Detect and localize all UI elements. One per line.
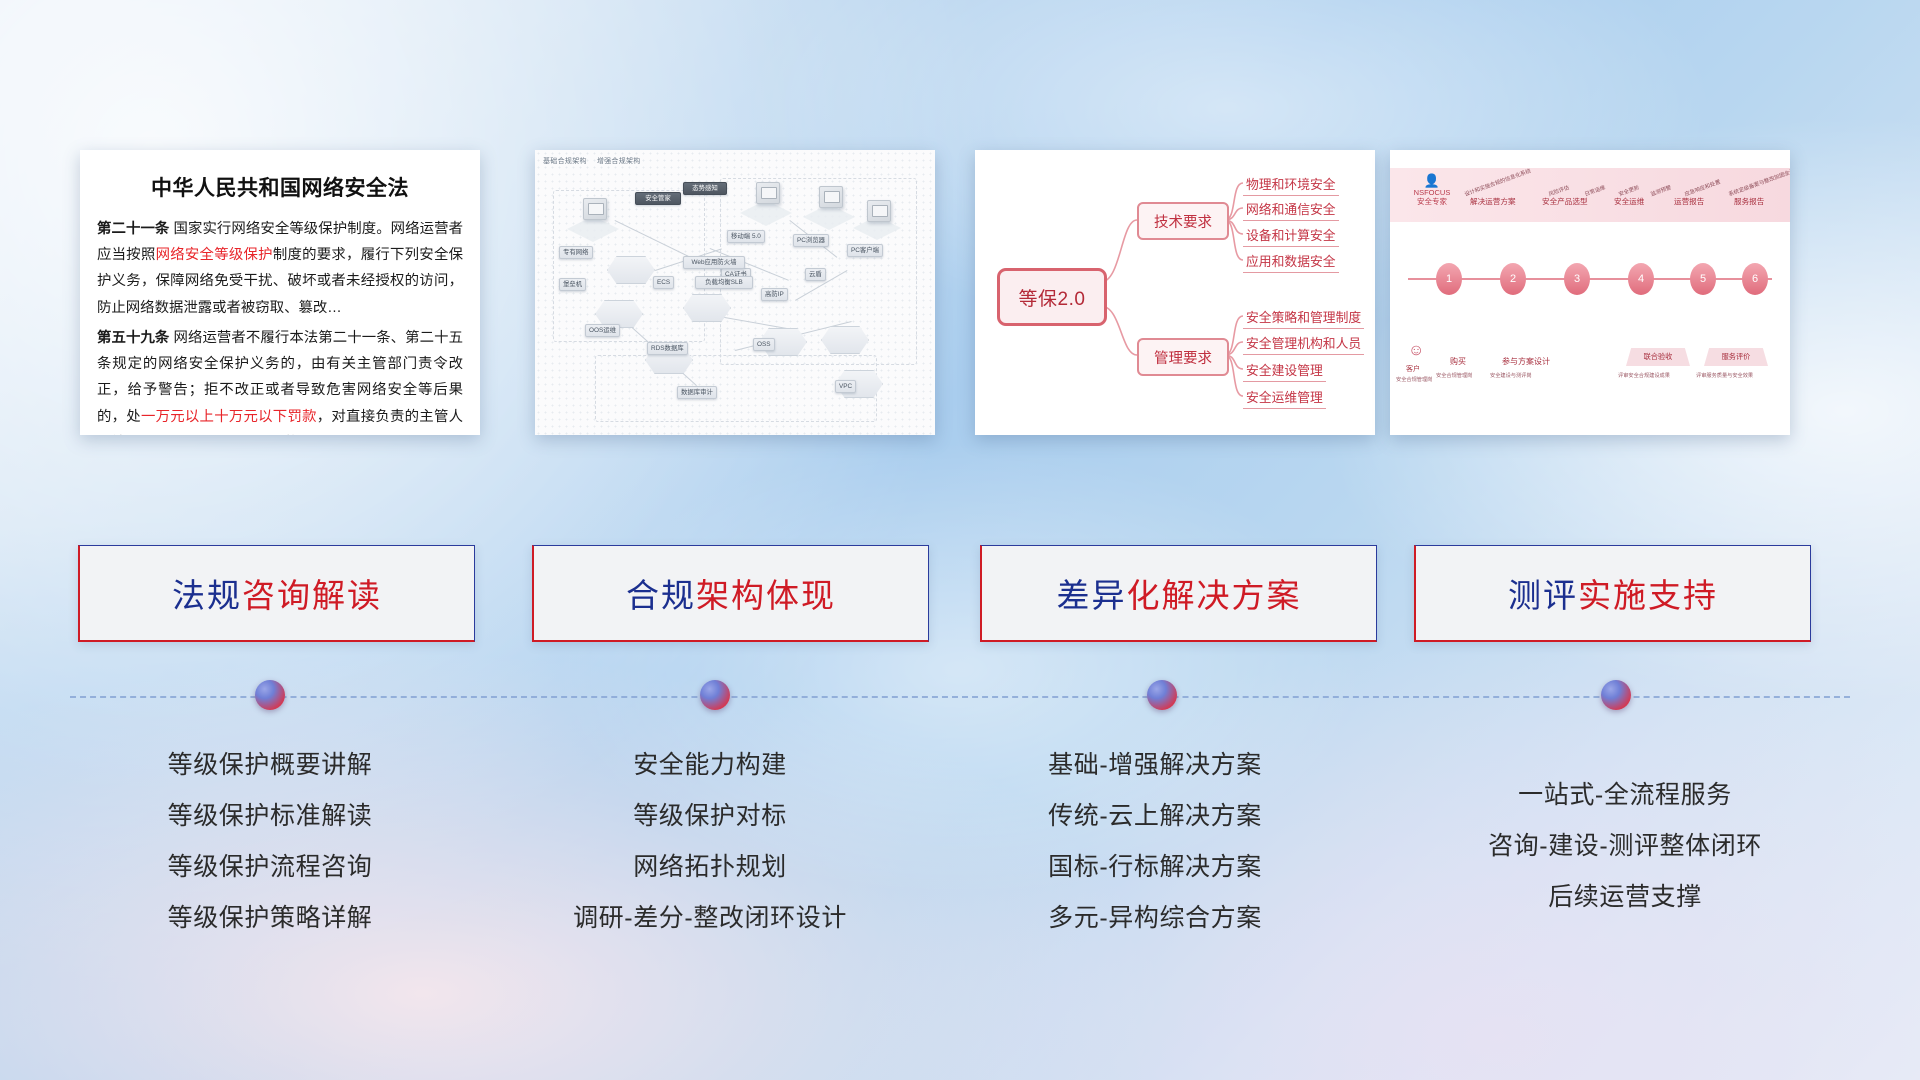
architecture-node: RDS数据库 (647, 342, 688, 355)
feature-lists: 等级保护概要讲解 等级保护标准解读 等级保护流程咨询 等级保护策略详解 安全能力… (0, 740, 1920, 970)
list-item: 调研-差分-整改闭环设计 (500, 893, 920, 944)
banner-label-red: 架构体现 (696, 577, 836, 614)
nsfocus-bottom-label: 参与方案设计 (1502, 356, 1550, 367)
nsfocus-chip: 服务报告 (1734, 196, 1764, 207)
nsfocus-step[interactable]: 2 (1500, 263, 1526, 295)
feature-column-3: 基础-增强解决方案 传统-云上解决方案 国标-行标解决方案 多元-异构综合方案 (945, 740, 1365, 944)
list-item: 咨询-建设-测评整体闭环 (1395, 821, 1855, 872)
list-item: 传统-云上解决方案 (945, 791, 1365, 842)
timeline-dot-3[interactable] (1147, 680, 1177, 710)
card-architecture-diagram[interactable]: 基础合规架构增强合规架构 专有网络 移动端 5.0 PC浏览 (535, 150, 935, 435)
nsfocus-bottom-sublabel: 安全建设与测评岗 (1490, 372, 1532, 379)
nsfocus-bottom-block-sub: 评审安全合规建设成果 (1618, 372, 1670, 379)
architecture-node: OSS (753, 338, 775, 351)
architecture-node: ECS (653, 276, 674, 289)
nsfocus-step[interactable]: 3 (1564, 263, 1590, 295)
mindmap-leaf[interactable]: 安全运维管理 (1243, 387, 1326, 409)
list-item: 等级保护标准解读 (60, 791, 480, 842)
list-item: 国标-行标解决方案 (945, 842, 1365, 893)
banner-label: 法规咨询解读 (172, 569, 382, 617)
banner-evaluation-support[interactable]: 测评实施支持 (1414, 545, 1811, 642)
architecture-node: 安全管家 (635, 192, 681, 205)
architecture-node: OOS运维 (585, 324, 620, 337)
mindmap-leaf[interactable]: 设备和计算安全 (1243, 225, 1339, 247)
banner-label-blue: 测评 (1508, 577, 1578, 614)
timeline-dot-4[interactable] (1601, 680, 1631, 710)
nsfocus-bottom-sublabel: 安全合规管理岗 (1436, 372, 1472, 379)
architecture-node: VPC (835, 380, 856, 393)
nsfocus-bottom-label: 购买 (1450, 356, 1466, 367)
law-article-59: 第五十九条 网络运营者不履行本法第二十一条、第二十五条规定的网络安全保护义务的，… (97, 325, 463, 435)
architecture-node: 负载均衡SLB (695, 276, 753, 289)
banner-label-blue: 法规 (172, 577, 242, 614)
architecture-hex-node (683, 294, 731, 322)
list-item: 等级保护流程咨询 (60, 842, 480, 893)
list-item: 等级保护概要讲解 (60, 740, 480, 791)
feature-column-2: 安全能力构建 等级保护对标 网络拓扑规划 调研-差分-整改闭环设计 (500, 740, 920, 944)
nsfocus-client-icon: ☺ (1408, 342, 1424, 360)
mindmap-leaf[interactable]: 安全建设管理 (1243, 360, 1326, 382)
architecture-header-right: 增强合规架构 (597, 158, 641, 165)
mindmap-leaf[interactable]: 网络和通信安全 (1243, 199, 1339, 221)
banner-label-red: 化解决方案 (1127, 577, 1302, 614)
architecture-node: Web应用防火墙 (683, 256, 745, 269)
architecture-node: 云盾 (805, 268, 826, 281)
law-title: 中华人民共和国网络安全法 (80, 172, 480, 202)
architecture-node: PC浏览器 (793, 234, 829, 247)
banner-differentiated-solution[interactable]: 差异化解决方案 (980, 545, 1377, 642)
card-row: 中华人民共和国网络安全法 第二十一条 国家实行网络安全等级保护制度。网络运营者应… (0, 150, 1920, 445)
architecture-node: 数据库审计 (677, 386, 717, 399)
list-item: 基础-增强解决方案 (945, 740, 1365, 791)
banner-row: 法规咨询解读 合规架构体现 差异化解决方案 测评实施支持 (0, 545, 1920, 650)
feature-column-4: 一站式-全流程服务 咨询-建设-测评整体闭环 后续运营支撑 (1395, 770, 1855, 923)
nsfocus-chip: 运营报告 (1674, 196, 1704, 207)
list-item: 后续运营支撑 (1395, 872, 1855, 923)
card-mindmap[interactable]: 等保2.0 技术要求 管理要求 物理和环境安全 网络和通信安全 设备和计算安全 … (975, 150, 1375, 435)
list-item: 多元-异构综合方案 (945, 893, 1365, 944)
law-body: 第二十一条 国家实行网络安全等级保护制度。网络运营者应当按照网络安全等级保护制度… (80, 216, 480, 435)
timeline-dot-2[interactable] (700, 680, 730, 710)
person-icon: 👤 (1404, 174, 1460, 188)
mindmap-branch-management[interactable]: 管理要求 (1137, 338, 1229, 376)
card-law-text[interactable]: 中华人民共和国网络安全法 第二十一条 国家实行网络安全等级保护制度。网络运营者应… (80, 150, 480, 435)
nsfocus-logo: 👤 NSFOCUS 安全专家 (1404, 174, 1460, 206)
nsfocus-client-sub: 安全合规管理岗 (1396, 376, 1432, 383)
banner-label: 测评实施支持 (1508, 569, 1718, 617)
architecture-node: 专有网络 (559, 246, 593, 259)
list-item: 网络拓扑规划 (500, 842, 920, 893)
banner-regulation-consulting[interactable]: 法规咨询解读 (78, 545, 475, 642)
banner-label: 合规架构体现 (626, 569, 836, 617)
nsfocus-canvas: 👤 NSFOCUS 安全专家 设计和实施合规的信息化系统 风险评估 日常运维 安… (1390, 150, 1790, 435)
architecture-node: 堡垒机 (559, 278, 586, 291)
nsfocus-logo-line1: NSFOCUS (1404, 188, 1460, 197)
nsfocus-bottom-block: 联合验收 (1626, 348, 1690, 366)
law-article-21-highlight: 网络安全等级保护 (156, 247, 273, 263)
list-item: 等级保护策略详解 (60, 893, 480, 944)
mindmap-root-node[interactable]: 等保2.0 (997, 268, 1107, 326)
law-article-59-label: 第五十九条 (97, 330, 169, 346)
nsfocus-axis (1408, 278, 1772, 280)
architecture-node: 态势感知 (683, 182, 727, 195)
nsfocus-client-title: 客户 (1406, 364, 1420, 374)
architecture-header: 基础合规架构增强合规架构 (543, 156, 641, 166)
nsfocus-step[interactable]: 5 (1690, 263, 1716, 295)
nsfocus-chip: 安全产品选型 (1542, 196, 1588, 207)
architecture-server-icon (756, 182, 780, 204)
mindmap-canvas: 等保2.0 技术要求 管理要求 物理和环境安全 网络和通信安全 设备和计算安全 … (975, 150, 1375, 435)
nsfocus-chip: 安全运维 (1614, 196, 1644, 207)
timeline (0, 688, 1920, 728)
architecture-header-left: 基础合规架构 (543, 158, 587, 165)
nsfocus-bottom-block: 服务评价 (1704, 348, 1768, 366)
banner-compliance-architecture[interactable]: 合规架构体现 (532, 545, 929, 642)
banner-label: 差异化解决方案 (1057, 569, 1302, 617)
nsfocus-bottom-block-sub: 评审服务质量与安全效果 (1696, 372, 1753, 379)
list-item: 一站式-全流程服务 (1395, 770, 1855, 821)
mindmap-leaf[interactable]: 安全管理机构和人员 (1243, 333, 1364, 355)
nsfocus-step[interactable]: 4 (1628, 263, 1654, 295)
mindmap-branch-technical[interactable]: 技术要求 (1137, 202, 1229, 240)
nsfocus-step[interactable]: 6 (1742, 263, 1768, 295)
architecture-server-icon (819, 186, 843, 208)
mindmap-leaf[interactable]: 安全策略和管理制度 (1243, 307, 1364, 329)
list-item: 等级保护对标 (500, 791, 920, 842)
architecture-server-icon (583, 198, 607, 220)
mindmap-leaf[interactable]: 物理和环境安全 (1243, 174, 1339, 196)
banner-label-blue: 差异 (1057, 577, 1127, 614)
law-article-21: 第二十一条 国家实行网络安全等级保护制度。网络运营者应当按照网络安全等级保护制度… (97, 216, 463, 321)
architecture-server-icon (867, 200, 891, 222)
banner-label-blue: 合规 (626, 577, 696, 614)
list-item: 安全能力构建 (500, 740, 920, 791)
timeline-dot-1[interactable] (255, 680, 285, 710)
nsfocus-chip: 解决运营方案 (1470, 196, 1516, 207)
nsfocus-step[interactable]: 1 (1436, 263, 1462, 295)
architecture-hex-node (607, 256, 655, 284)
nsfocus-logo-line2: 安全专家 (1404, 197, 1460, 206)
architecture-canvas: 基础合规架构增强合规架构 专有网络 移动端 5.0 PC浏览 (535, 150, 935, 435)
banner-label-red: 咨询解读 (242, 577, 382, 614)
law-article-21-label: 第二十一条 (97, 221, 169, 237)
law-article-59-highlight-1: 一万元以上十万元以下罚款 (141, 409, 317, 425)
architecture-node: PC客户端 (847, 244, 883, 257)
banner-label-red: 实施支持 (1578, 577, 1718, 614)
architecture-node: 移动端 5.0 (727, 230, 765, 243)
architecture-node: 高防IP (761, 288, 788, 301)
mindmap-leaf[interactable]: 应用和数据安全 (1243, 251, 1339, 273)
feature-column-1: 等级保护概要讲解 等级保护标准解读 等级保护流程咨询 等级保护策略详解 (60, 740, 480, 944)
architecture-hex-node (821, 326, 869, 354)
timeline-dashed-line (70, 696, 1850, 698)
card-nsfocus-timeline[interactable]: 👤 NSFOCUS 安全专家 设计和实施合规的信息化系统 风险评估 日常运维 安… (1390, 150, 1790, 435)
